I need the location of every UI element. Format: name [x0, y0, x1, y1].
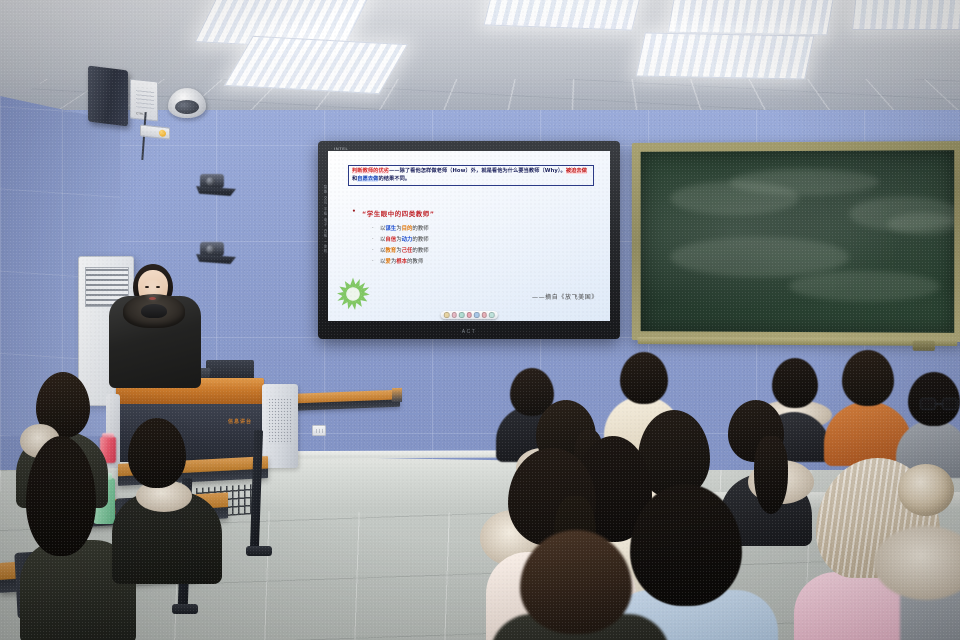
tool-more-icon[interactable] — [489, 312, 495, 318]
presenter-mouth — [149, 297, 156, 300]
sb1-post: 的教师 — [412, 226, 428, 232]
student-left-aisle-3 — [112, 418, 222, 578]
camera-lens-icon — [206, 177, 215, 186]
glasses-lens-right — [942, 398, 958, 410]
ceiling-light-panel-3 — [483, 0, 646, 31]
slide-body: “学生眼中的四类教师” 以谋生为目的的教师 以自信为动力的教师 以教育为己任的教… — [354, 209, 600, 268]
sb2-post: 的教师 — [412, 237, 428, 243]
slide-sub-bullet-4: 以爱为根本的教师 — [354, 257, 600, 268]
sb4-key2: 根本 — [396, 259, 407, 265]
wall-shelf-end — [392, 388, 402, 402]
sb3-key: 教育 — [385, 248, 396, 254]
slide-heading-part-5: 自愿去做 — [357, 176, 378, 182]
tool-undo-icon[interactable] — [481, 312, 487, 318]
whiteboard-brand-mark: ACT — [318, 329, 620, 335]
slide-heading-part-3: 被迫去做 — [566, 168, 587, 174]
classroom-photo: CTRL INTEL 智能 交互 平板 电子 白板 一体机 ACT 判断教师的优… — [0, 0, 960, 640]
control-box-vents — [136, 87, 154, 109]
slide-sub-bullet-1: 以谋生为目的的教师 — [354, 224, 600, 235]
presenter-face — [141, 280, 165, 304]
slide-sub-bullet-2: 以自信为动力的教师 — [354, 235, 600, 246]
sb1-key: 谋生 — [385, 226, 396, 232]
sb2-key: 自信 — [385, 237, 396, 243]
annotation-toolbar[interactable] — [441, 311, 498, 319]
chalk-smudge — [789, 271, 940, 302]
podium-speaker-grille — [268, 398, 292, 444]
slide-main-bullet: “学生眼中的四类教师” — [354, 209, 600, 218]
interactive-whiteboard[interactable]: INTEL 智能 交互 平板 电子 白板 一体机 ACT 判断教师的优劣——除了… — [318, 141, 620, 339]
sb4-post: 的教师 — [407, 259, 423, 265]
student-head — [128, 418, 186, 488]
presenter — [105, 268, 205, 388]
chalk-smudge — [729, 169, 879, 196]
sb3-post: 的教师 — [412, 248, 428, 254]
wall-camera-lower — [196, 240, 238, 270]
glasses-lens-left — [920, 398, 936, 410]
dome-security-camera — [168, 88, 206, 118]
presenter-eye-left — [145, 286, 149, 288]
ceiling-light-panel-2 — [224, 36, 408, 94]
sb3-key2: 己任 — [402, 248, 413, 254]
student-front-far-right — [900, 470, 960, 640]
slide-heading-part-6: 的结果不同。 — [378, 176, 410, 182]
slide-heading-part-1: 判断教师的优劣 — [352, 168, 389, 174]
podium-brand-label: 信息讲台 — [228, 418, 252, 425]
tool-select-icon[interactable] — [444, 312, 450, 318]
whiteboard-screen[interactable]: 判断教师的优劣——除了看他怎样做老师（How）外，就是看他为什么要当教师（Why… — [328, 151, 610, 321]
student-head — [26, 436, 96, 556]
control-box-label: CTRL — [136, 111, 144, 116]
wall-power-outlet[interactable] — [312, 425, 326, 436]
slide-citation: ——摘自《放飞美国》 — [532, 292, 598, 301]
desk-foot — [246, 546, 272, 556]
camera-bracket — [196, 254, 236, 264]
presenter-eye-right — [156, 286, 160, 288]
camera-lens-icon — [206, 245, 215, 254]
ceiling-speaker — [88, 66, 128, 127]
student-front-left — [490, 530, 670, 640]
sb1-key2: 目的 — [402, 226, 413, 232]
tool-highlighter-icon[interactable] — [466, 312, 472, 318]
ceiling-light-panel-4 — [668, 0, 837, 35]
slide-heading-box: 判断教师的优劣——除了看他怎样做老师（How）外，就是看他为什么要当教师（Why… — [348, 165, 594, 186]
chalkboard-surface[interactable] — [641, 150, 955, 333]
green-chalkboard[interactable] — [632, 141, 960, 342]
chalk-smudge — [670, 237, 849, 277]
chalkboard-bracket — [913, 341, 935, 351]
student-head — [842, 350, 894, 406]
wall-camera-upper — [196, 172, 238, 202]
tool-eraser-icon[interactable] — [459, 312, 465, 318]
student-head — [520, 530, 632, 634]
camera-bracket — [196, 186, 236, 196]
ceiling-light-panel-6 — [852, 0, 960, 30]
presenter-scarf — [141, 304, 167, 318]
desk-foot — [172, 604, 198, 614]
tool-pen-icon[interactable] — [451, 312, 457, 318]
slide-sub-bullet-3: 以教育为己任的教师 — [354, 246, 600, 257]
tool-shape-icon[interactable] — [474, 312, 480, 318]
sb2-key2: 动力 — [402, 237, 413, 243]
green-starburst-icon — [336, 277, 370, 311]
ceiling-light-panel-5 — [636, 33, 815, 80]
slide-heading-part-2: ——除了看他怎样做老师（How）外，就是看他为什么要当教师（Why）。 — [389, 168, 566, 174]
chalk-smudge — [887, 213, 954, 235]
student-head — [620, 352, 668, 404]
socket-knob — [159, 129, 166, 137]
glasses-icon — [920, 398, 960, 412]
